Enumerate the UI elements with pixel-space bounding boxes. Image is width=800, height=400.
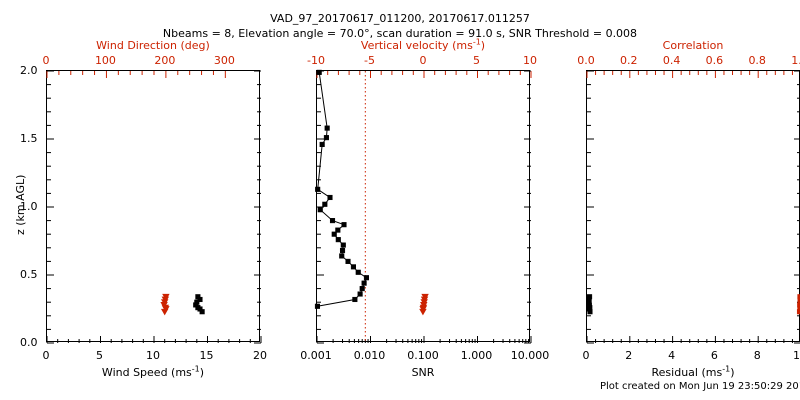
- data-point-marker: [323, 202, 328, 207]
- bottom-tick-label: 6: [711, 350, 718, 361]
- top-tick-label: 0.0: [577, 55, 595, 66]
- bottom-tick-label: 20: [253, 350, 267, 361]
- top-axis-title: Vertical velocity (ms-1): [361, 40, 485, 51]
- panel-snr-profile: [316, 70, 530, 342]
- bottom-tick-label: 4: [668, 350, 675, 361]
- top-tick-label: 5: [473, 55, 480, 66]
- data-point-marker: [358, 292, 363, 297]
- top-tick-label: -10: [307, 55, 325, 66]
- data-point-marker: [339, 254, 344, 259]
- top-tick-label: -5: [364, 55, 375, 66]
- data-point-marker: [340, 248, 345, 253]
- data-point-marker: [356, 270, 361, 275]
- top-tick-label: 0.2: [620, 55, 638, 66]
- bottom-tick-label: 5: [96, 350, 103, 361]
- data-point-marker: [325, 126, 330, 131]
- panel-wind-profile: [46, 70, 260, 342]
- y-tick-label: 2.0: [20, 65, 38, 76]
- data-point-marker: [332, 232, 337, 237]
- bottom-tick-label: 0.100: [407, 350, 439, 361]
- data-point-marker: [318, 207, 323, 212]
- data-point-marker: [162, 309, 168, 315]
- top-axis-title: Wind Direction (deg): [96, 40, 210, 51]
- bottom-tick-label: 15: [200, 350, 214, 361]
- data-point-marker: [360, 286, 365, 291]
- bottom-tick-label: 2: [625, 350, 632, 361]
- data-point-marker: [200, 309, 205, 314]
- bottom-tick-label: 0.010: [354, 350, 386, 361]
- top-tick-label: 0.6: [706, 55, 724, 66]
- bottom-axis-title: Wind Speed (ms-1): [102, 367, 204, 378]
- data-point-marker: [342, 222, 347, 227]
- data-point-marker: [346, 259, 351, 264]
- data-point-marker: [324, 135, 329, 140]
- bottom-tick-label: 0: [583, 350, 590, 361]
- data-point-marker: [588, 309, 593, 314]
- bottom-tick-label: 10: [146, 350, 160, 361]
- snr-profile-plot-area: [317, 71, 531, 343]
- figure-footer: Plot created on Mon Jun 19 23:50:29 2017: [600, 382, 800, 392]
- data-point-marker: [336, 237, 341, 242]
- top-axis-title: Correlation: [663, 40, 724, 51]
- data-point-marker: [328, 195, 333, 200]
- data-point-marker: [351, 265, 356, 270]
- data-point-marker: [330, 218, 335, 223]
- bottom-tick-label: 0: [43, 350, 50, 361]
- residual-correlation-plot-area: [587, 71, 800, 343]
- bottom-axis-title: Residual (ms-1): [652, 367, 735, 378]
- y-tick-label: 1.0: [20, 201, 38, 212]
- bottom-tick-label: 10: [793, 350, 800, 361]
- top-tick-label: 0.8: [748, 55, 766, 66]
- figure-title: VAD_97_20170617_011200, 20170617.011257: [0, 12, 800, 25]
- wind-profile-plot-area: [47, 71, 261, 343]
- y-tick-label: 1.5: [20, 133, 38, 144]
- data-point-marker: [341, 243, 346, 248]
- data-point-marker: [315, 304, 320, 309]
- top-tick-label: 0: [420, 55, 427, 66]
- data-point-marker: [362, 281, 367, 286]
- top-tick-label: 10: [523, 55, 537, 66]
- top-tick-label: 0.4: [663, 55, 681, 66]
- data-point-marker: [364, 275, 369, 280]
- data-point-marker: [320, 142, 325, 147]
- top-tick-label: 0: [43, 55, 50, 66]
- top-tick-label: 100: [95, 55, 116, 66]
- bottom-tick-label: 1.000: [461, 350, 493, 361]
- y-tick-label: 0.0: [20, 337, 38, 348]
- data-point-marker: [317, 70, 322, 75]
- top-tick-label: 300: [214, 55, 235, 66]
- panel-residual-correlation: [586, 70, 800, 342]
- bottom-tick-label: 0.001: [300, 350, 332, 361]
- data-point-marker: [315, 187, 320, 192]
- vad-plot-figure: VAD_97_20170617_011200, 20170617.011257 …: [0, 0, 800, 400]
- y-tick-label: 0.5: [20, 269, 38, 280]
- data-point-marker: [353, 297, 358, 302]
- top-tick-label: 200: [154, 55, 175, 66]
- data-point-marker: [420, 309, 426, 315]
- bottom-tick-label: 8: [754, 350, 761, 361]
- bottom-tick-label: 10.000: [511, 350, 550, 361]
- top-tick-label: 1.0: [791, 55, 800, 66]
- bottom-axis-title: SNR: [412, 367, 435, 378]
